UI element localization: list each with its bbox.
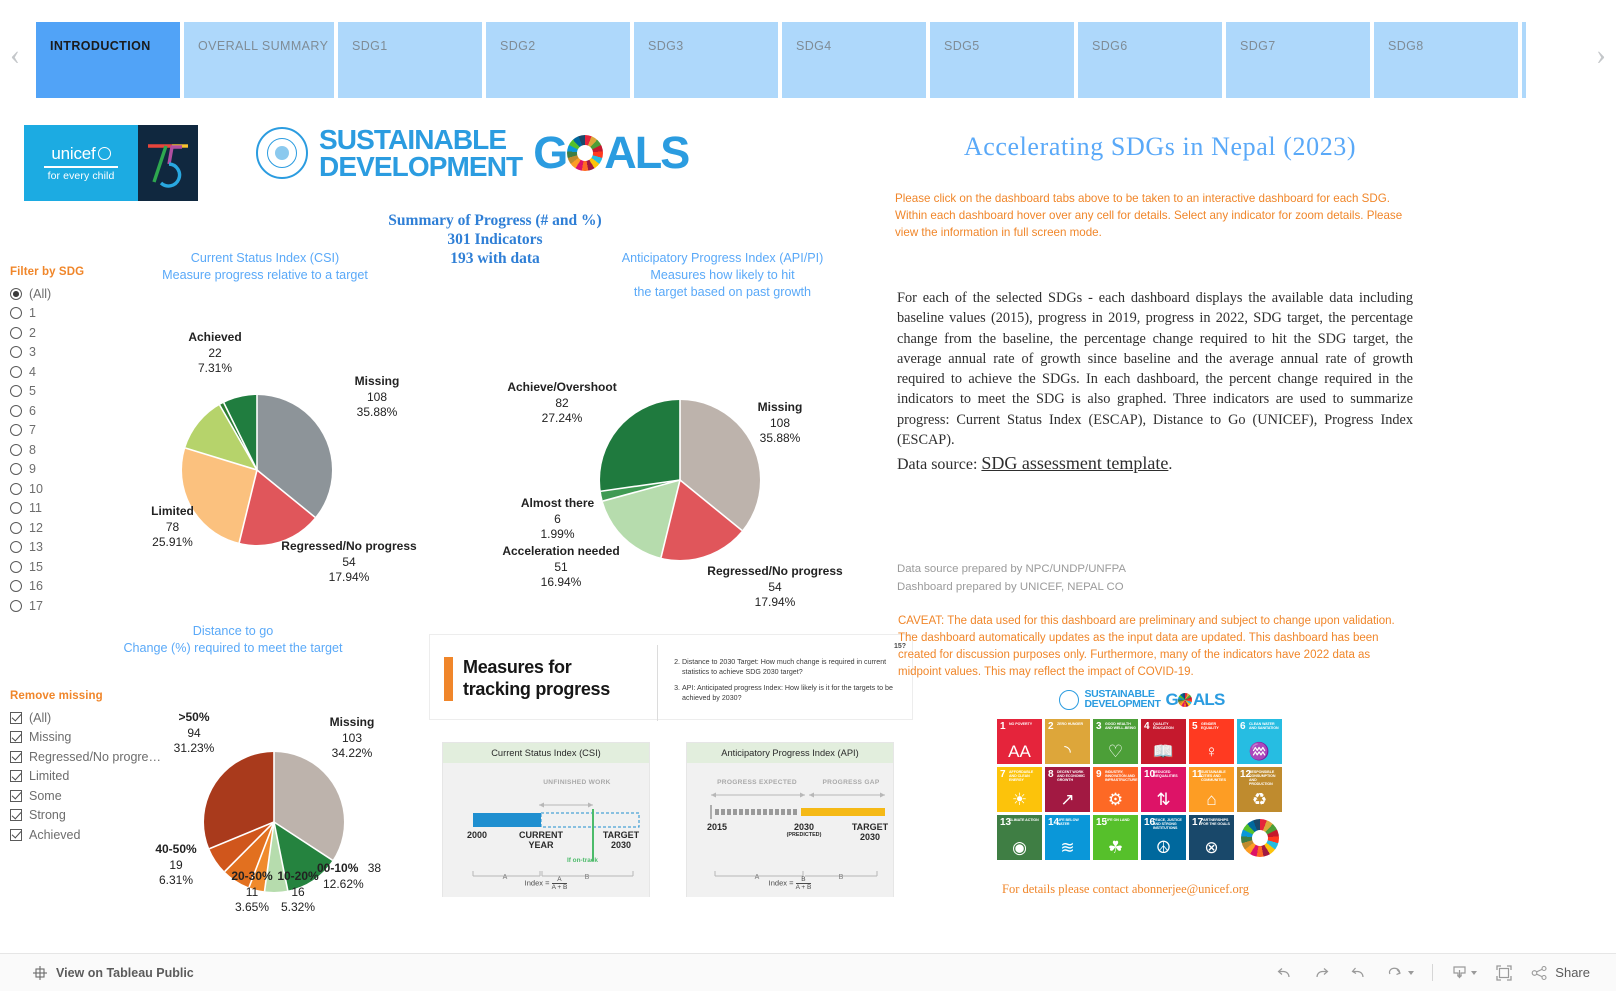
option-label: 11 — [29, 501, 42, 515]
measures-list-item: Distance to 2030 Target: How much change… — [682, 657, 898, 678]
data-source-suffix: . — [1168, 456, 1172, 473]
sdg-goal-tile-6[interactable]: 6CLEAN WATER AND SANITATION♒ — [1237, 719, 1282, 764]
checkbox-icon[interactable] — [10, 751, 22, 763]
tab-introduction[interactable]: INTRODUCTION — [36, 22, 180, 98]
radio-icon[interactable] — [10, 502, 22, 514]
tabs-scroll-left-icon[interactable]: ‹ — [10, 40, 20, 70]
sdg-goal-tile-3[interactable]: 3GOOD HEALTH AND WELL-BEING♡ — [1093, 719, 1138, 764]
api-heading-line-1: Anticipatory Progress Index (API/PI) — [590, 250, 855, 267]
option-label: Achieved — [29, 828, 80, 842]
goal-title: GENDER EQUALITY — [1201, 722, 1232, 730]
data-source-prefix: Data source: — [897, 456, 981, 473]
dtg-00-10-count: 38 — [368, 861, 381, 877]
goal-title: REDUCED INEQUALITIES — [1153, 770, 1184, 778]
redo-icon[interactable] — [1312, 965, 1331, 981]
checkbox-icon[interactable] — [10, 770, 22, 782]
sdg-goal-tile-12[interactable]: 12RESPONSIBLE CONSUMPTION AND PRODUCTION… — [1237, 767, 1282, 812]
sdg-goal-tile-9[interactable]: 9INDUSTRY, INNOVATION AND INFRASTRUCTURE… — [1093, 767, 1138, 812]
dtg-label-missing: Missing 103 34.22% — [310, 715, 394, 762]
goal-pictogram-icon: ☮ — [1141, 839, 1186, 856]
csi-heading-line-2: Measure progress relative to a target — [120, 267, 410, 284]
sdg-filter-option-2[interactable]: 2 — [10, 323, 180, 343]
option-label: 2 — [29, 326, 36, 340]
prepared-by-line-2: Dashboard prepared by UNICEF, NEPAL CO — [897, 579, 1126, 597]
tab-strip: INTRODUCTIONOVERALL SUMMARYSDG1SDG2SDG3S… — [36, 22, 1526, 98]
api-heading-line-2: Measures how likely to hit — [590, 267, 855, 284]
option-label: Some — [29, 789, 62, 803]
api-fraction: B A + B — [796, 876, 812, 891]
goal-pictogram-icon: ☀ — [997, 791, 1042, 808]
option-label: (All) — [29, 287, 51, 301]
checkbox-icon[interactable] — [10, 731, 22, 743]
goal-pictogram-icon: ↗ — [1045, 791, 1090, 808]
checkbox-icon[interactable] — [10, 829, 22, 841]
un-emblem-icon — [1059, 690, 1079, 710]
unicef-tagline: for every child — [48, 170, 115, 182]
csi-card-header: Current Status Index (CSI) — [443, 743, 649, 763]
csi-label-limited: Limited 78 25.91% — [130, 504, 215, 551]
remove-missing-checkbox-group: (All)MissingRegressed/No progre…LimitedS… — [10, 708, 180, 845]
sdg-goal-tile-7[interactable]: 7AFFORDABLE AND CLEAN ENERGY☀ — [997, 767, 1042, 812]
radio-icon[interactable] — [10, 444, 22, 456]
csi-label-missing: Missing 108 35.88% — [322, 374, 432, 421]
checkbox-icon[interactable] — [10, 790, 22, 802]
csi-on-track-note: If on-track — [567, 857, 598, 864]
goal-title: INDUSTRY, INNOVATION AND INFRASTRUCTURE — [1105, 770, 1136, 782]
sdg-filter-option-10[interactable]: 10 — [10, 479, 180, 499]
dtg-label-over-50: >50% 94 31.23% — [158, 710, 230, 757]
option-label: 12 — [29, 521, 43, 535]
goal-title: QUALITY EDUCATION — [1153, 722, 1184, 730]
goal-title: DECENT WORK AND ECONOMIC GROWTH — [1057, 770, 1088, 782]
goal-title: AFFORDABLE AND CLEAN ENERGY — [1009, 770, 1040, 782]
summary-title-line-1: Summary of Progress (# and %) — [330, 212, 660, 231]
goal-number: 8 — [1048, 769, 1054, 780]
goals-g: G — [533, 127, 566, 179]
sdg-filter-option-6[interactable]: 6 — [10, 401, 180, 421]
api-label-regressed: Regressed/No progress 54 17.94% — [695, 564, 855, 611]
sustainable-development-goals-logo: SUSTAINABLE DEVELOPMENT G ALS — [256, 126, 688, 180]
goal-pictogram-icon: ⇅ — [1141, 791, 1186, 808]
tab-overall-summary[interactable]: OVERALL SUMMARY — [184, 22, 334, 98]
sdg-mini-goals-wordmark: G ALS — [1166, 690, 1225, 710]
sdg-filter-option-1[interactable]: 1 — [10, 304, 180, 324]
goal-title: SUSTAINABLE CITIES AND COMMUNITIES — [1201, 770, 1232, 782]
un-emblem-icon — [256, 127, 308, 179]
option-label: Limited — [29, 769, 69, 783]
tabs-scroll-right-icon[interactable]: › — [1596, 40, 1606, 70]
radio-icon[interactable] — [10, 522, 22, 534]
goal-pictogram-icon: AA — [997, 743, 1042, 760]
sdg-goal-tile-8[interactable]: 8DECENT WORK AND ECONOMIC GROWTH↗ — [1045, 767, 1090, 812]
sdg-goal-tile-11[interactable]: 11SUSTAINABLE CITIES AND COMMUNITIES⌂ — [1189, 767, 1234, 812]
option-label: 6 — [29, 404, 36, 418]
chevron-down-icon[interactable] — [1471, 971, 1477, 975]
tab-sdg3[interactable]: SDG3 — [634, 22, 778, 98]
goal-pictogram-icon: ≋ — [1045, 839, 1090, 856]
option-label: Strong — [29, 808, 66, 822]
goal-number: 1 — [1000, 721, 1006, 732]
unicef-logo: unicef for every child — [24, 125, 138, 201]
radio-icon[interactable] — [10, 307, 22, 319]
sdg-filter-option-16[interactable]: 16 — [10, 577, 180, 597]
radio-icon[interactable] — [10, 600, 22, 612]
sdg-goal-tile-13[interactable]: 13CLIMATE ACTION◉ — [997, 815, 1042, 860]
radio-icon[interactable] — [10, 288, 22, 300]
tab-sdg7[interactable]: SDG7 — [1226, 22, 1370, 98]
prepared-by-line-1: Data source prepared by NPC/UNDP/UNFPA — [897, 561, 1126, 579]
option-label: 8 — [29, 443, 36, 457]
option-label: Missing — [29, 730, 71, 744]
unicef-globe-icon — [98, 147, 111, 160]
sdg-filter-option-5[interactable]: 5 — [10, 382, 180, 402]
sdg-color-wheel-tile — [1237, 815, 1282, 860]
radio-icon[interactable] — [10, 405, 22, 417]
goal-pictogram-icon: ♡ — [1093, 743, 1138, 760]
sdg-mini-line-2: DEVELOPMENT — [1084, 700, 1160, 710]
dashboard-description-paragraph: For each of the selected SDGs - each das… — [897, 288, 1413, 450]
toolbar-actions: Share — [1275, 964, 1590, 982]
sdg-filter-option-8[interactable]: 8 — [10, 440, 180, 460]
api-index-label: Index = — [769, 878, 794, 887]
api-denominator: A + B — [796, 884, 812, 891]
measures-list-item: API: Anticipated progress Index: How lik… — [682, 683, 898, 704]
sdg-filter-option-15[interactable]: 15 — [10, 557, 180, 577]
data-source-link[interactable]: SDG assessment template — [981, 453, 1168, 473]
measures-title-line-1: Measures for — [463, 657, 610, 679]
goal-number: 6 — [1240, 721, 1246, 732]
sdg-goal-tile-17[interactable]: 17PARTNERSHIPS FOR THE GOALS⊗ — [1189, 815, 1234, 860]
goal-title: LIFE ON LAND — [1105, 818, 1136, 822]
api-label-missing: Missing 108 35.88% — [730, 400, 830, 447]
anniversary-75-icon — [142, 138, 194, 188]
logo-group: unicef for every child — [24, 125, 198, 201]
goal-number: 4 — [1144, 721, 1150, 732]
goal-title: ZERO HUNGER — [1057, 722, 1088, 726]
api-numerator: B — [796, 876, 812, 884]
csi-numerator: A — [552, 876, 568, 884]
option-label: 1 — [29, 306, 36, 320]
api-card-header: Anticipatory Progress Index (API) — [687, 743, 893, 763]
goal-pictogram-icon: 📖 — [1141, 743, 1186, 760]
option-label: 9 — [29, 462, 36, 476]
radio-icon[interactable] — [10, 541, 22, 553]
share-button[interactable]: Share — [1531, 965, 1590, 981]
divider — [44, 166, 118, 167]
option-label: Regressed/No progre… — [29, 750, 161, 764]
sdg-line-1: SUSTAINABLE — [319, 126, 522, 153]
goal-pictogram-icon: ⊗ — [1189, 839, 1234, 856]
csi-formula: Index = A A + B — [443, 876, 649, 891]
goal-pictogram-icon: ♒ — [1237, 743, 1282, 760]
api-card-body: PROGRESS EXPECTED PROGRESS GAP — [687, 763, 893, 897]
remove-missing-option-some[interactable]: Some — [10, 786, 180, 806]
view-on-tableau-public-button[interactable]: View on Tableau Public — [32, 965, 194, 981]
download-icon[interactable] — [1451, 964, 1477, 981]
radio-icon[interactable] — [10, 483, 22, 495]
api-diagram-card[interactable]: Anticipatory Progress Index (API) PROGRE… — [686, 742, 894, 897]
remove-missing-option-strong[interactable]: Strong — [10, 806, 180, 826]
goal-title: LIFE BELOW WATER — [1057, 818, 1088, 826]
option-label: 16 — [29, 579, 43, 593]
csi-start-year: 2000 — [455, 831, 499, 841]
sdg-color-wheel-icon — [1178, 693, 1192, 707]
goal-title: RESPONSIBLE CONSUMPTION AND PRODUCTION — [1249, 770, 1280, 787]
share-icon — [1531, 965, 1548, 981]
sdg-goal-tile-15[interactable]: 15LIFE ON LAND☘ — [1093, 815, 1138, 860]
sdg-filter-option-all[interactable]: (All) — [10, 284, 180, 304]
measures-list: Distance to 2030 Target: How much change… — [673, 657, 898, 708]
option-label: 13 — [29, 540, 43, 554]
tableau-logo-icon — [32, 965, 48, 981]
option-label: 10 — [29, 482, 43, 496]
sdg-goal-tile-14[interactable]: 14LIFE BELOW WATER≋ — [1045, 815, 1090, 860]
remove-missing-title: Remove missing — [10, 690, 180, 702]
distance-to-go-heading: Distance to go Change (%) required to me… — [88, 623, 378, 657]
sdg-line-2: DEVELOPMENT — [319, 153, 522, 180]
revert-icon[interactable] — [1349, 965, 1368, 981]
goal-pictogram-icon: ♀ — [1189, 743, 1234, 760]
option-label: 3 — [29, 345, 36, 359]
goal-pictogram-icon: ☘ — [1093, 839, 1138, 856]
radio-icon[interactable] — [10, 580, 22, 592]
sdg-goal-tile-16[interactable]: 16PEACE, JUSTICE AND STRONG INSTITUTIONS… — [1141, 815, 1186, 860]
goal-title: NO POVERTY — [1009, 722, 1040, 726]
sdg-goal-tile-5[interactable]: 5GENDER EQUALITY♀ — [1189, 719, 1234, 764]
csi-denominator: A + B — [552, 884, 568, 891]
sdg-filter-option-9[interactable]: 9 — [10, 460, 180, 480]
remove-missing-option-limited[interactable]: Limited — [10, 767, 180, 787]
dtg-label-40-50: 40-50% 19 6.31% — [140, 842, 212, 889]
sdg-goals-grid-section: SUSTAINABLE DEVELOPMENT G ALS 1NO POVERT… — [997, 690, 1287, 860]
csi-card-body: UNFINISHED WORK A B 2000 CURRENT — [443, 763, 649, 897]
unicef-wordmark: unicef — [51, 144, 95, 164]
tab-s[interactable]: S — [1522, 22, 1526, 98]
view-on-tableau-public-label: View on Tableau Public — [56, 966, 194, 980]
mini-goals-als: ALS — [1193, 690, 1225, 710]
divider — [1432, 964, 1433, 981]
dtg-label-00-10: 00-10% 38 12.62% — [317, 861, 427, 892]
goal-title: CLIMATE ACTION — [1009, 818, 1040, 822]
divider — [657, 645, 658, 721]
api-start-year: 2015 — [697, 823, 737, 833]
goal-title: PEACE, JUSTICE AND STRONG INSTITUTIONS — [1153, 818, 1184, 830]
sdg-color-wheel-icon — [1241, 819, 1279, 857]
sdg-goal-tiles: 1NO POVERTYAA2ZERO HUNGER◝3GOOD HEALTH A… — [997, 719, 1287, 860]
api-target-label: TARGET 2030 — [847, 823, 893, 843]
api-mid-year: 2030 (PREDICTED) — [777, 823, 831, 839]
sdg-goal-tile-10[interactable]: 10REDUCED INEQUALITIES⇅ — [1141, 767, 1186, 812]
option-label: 7 — [29, 423, 36, 437]
csi-fraction: A A + B — [552, 876, 568, 891]
api-label-overshoot: Achieve/Overshoot 82 27.24% — [492, 380, 632, 427]
sdg-goal-tile-1[interactable]: 1NO POVERTYAA — [997, 719, 1042, 764]
api-label-almost-there: Almost there 6 1.99% — [500, 496, 615, 543]
tab-sdg6[interactable]: SDG6 — [1078, 22, 1222, 98]
sdg-mini-wordmark: SUSTAINABLE DEVELOPMENT — [1084, 690, 1160, 710]
tab-sdg8[interactable]: SDG8 — [1374, 22, 1518, 98]
goal-pictogram-icon: ♻ — [1237, 791, 1282, 808]
filter-by-sdg-panel: Filter by SDG (All)123456789101112131516… — [10, 266, 180, 616]
contact-line: For details please contact abonnerjee@un… — [1002, 882, 1249, 897]
sdg-filter-option-17[interactable]: 17 — [10, 596, 180, 616]
sdg-goal-tile-4[interactable]: 4QUALITY EDUCATION📖 — [1141, 719, 1186, 764]
api-mid-year-sub: (PREDICTED) — [777, 833, 831, 839]
csi-label-regressed: Regressed/No progress 54 17.94% — [268, 539, 430, 586]
checkbox-icon[interactable] — [10, 712, 22, 724]
tab-sdg1[interactable]: SDG1 — [338, 22, 482, 98]
radio-icon[interactable] — [10, 463, 22, 475]
dtg-00-10-pct: 12.62% — [323, 877, 364, 893]
goal-pictogram-icon: ◉ — [997, 839, 1042, 856]
caveat-note: CAVEAT: The data used for this dashboard… — [898, 613, 1398, 681]
option-label: 4 — [29, 365, 36, 379]
page-title: Accelerating SDGs in Nepal (2023) — [900, 132, 1420, 162]
option-label: 15 — [29, 560, 43, 574]
api-target-line-2: 2030 — [847, 833, 893, 843]
tab-sdg5[interactable]: SDG5 — [930, 22, 1074, 98]
sdg-filter-option-3[interactable]: 3 — [10, 343, 180, 363]
measures-for-tracking-progress-card[interactable]: Measures for tracking progress 15? Dista… — [429, 634, 913, 720]
prepared-by-note: Data source prepared by NPC/UNDP/UNFPA D… — [897, 561, 1126, 596]
sdg-goal-tile-2[interactable]: 2ZERO HUNGER◝ — [1045, 719, 1090, 764]
goal-number: 2 — [1048, 721, 1054, 732]
goal-pictogram-icon: ◝ — [1045, 743, 1090, 760]
goal-number: 5 — [1192, 721, 1198, 732]
dashboard-instructions: Please click on the dashboard tabs above… — [895, 191, 1405, 241]
sdg-filter-option-4[interactable]: 4 — [10, 362, 180, 382]
sdg-wordmark: SUSTAINABLE DEVELOPMENT — [319, 126, 522, 180]
remove-missing-panel: Remove missing (All)MissingRegressed/No … — [10, 690, 180, 845]
api-heading: Anticipatory Progress Index (API/PI) Mea… — [590, 250, 855, 301]
bottom-toolbar: View on Tableau Public — [0, 953, 1616, 991]
goal-title: CLEAN WATER AND SANITATION — [1249, 722, 1280, 730]
refresh-icon[interactable] — [1386, 965, 1414, 981]
csi-label-achieved: Achieved 22 7.31% — [170, 330, 260, 377]
accent-bar — [444, 657, 453, 701]
share-label: Share — [1555, 965, 1590, 980]
dashboard-tab-bar: ‹ INTRODUCTIONOVERALL SUMMARYSDG1SDG2SDG… — [0, 0, 1616, 110]
api-label-acceleration-needed: Acceleration needed 51 16.94% — [489, 544, 633, 591]
radio-icon[interactable] — [10, 561, 22, 573]
radio-icon[interactable] — [10, 346, 22, 358]
api-heading-line-3: the target based on past growth — [590, 284, 855, 301]
radio-icon[interactable] — [10, 385, 22, 397]
tab-sdg2[interactable]: SDG2 — [486, 22, 630, 98]
radio-icon[interactable] — [10, 366, 22, 378]
data-source-line: Data source: SDG assessment template. — [897, 453, 1172, 474]
csi-heading-line-1: Current Status Index (CSI) — [120, 250, 410, 267]
csi-target-label: TARGET 2030 — [595, 831, 647, 851]
dtg-heading-line-1: Distance to go — [88, 623, 378, 640]
goal-pictogram-icon: ⌂ — [1189, 791, 1234, 808]
measures-title-line-2: tracking progress — [463, 679, 610, 701]
sdg-color-wheel-icon — [567, 135, 603, 171]
csi-target-line-2: 2030 — [595, 841, 647, 851]
checkbox-icon[interactable] — [10, 809, 22, 821]
goal-title: GOOD HEALTH AND WELL-BEING — [1105, 722, 1136, 730]
goal-number: 3 — [1096, 721, 1102, 732]
radio-icon[interactable] — [10, 327, 22, 339]
goal-number: 7 — [1000, 769, 1006, 780]
sdg-goals-wordmark: G ALS — [533, 127, 688, 179]
sdg-mini-logo: SUSTAINABLE DEVELOPMENT G ALS — [997, 690, 1287, 710]
remove-missing-option-regressednoprogre[interactable]: Regressed/No progre… — [10, 747, 180, 767]
csi-diagram-card[interactable]: Current Status Index (CSI) UNFINISHED WO… — [442, 742, 650, 897]
csi-heading: Current Status Index (CSI) Measure progr… — [120, 250, 410, 284]
sdg-radio-group: (All)12345678910111213151617 — [10, 284, 180, 616]
remove-missing-option-all[interactable]: (All) — [10, 708, 180, 728]
option-label: (All) — [29, 711, 51, 725]
tab-sdg4[interactable]: SDG4 — [782, 22, 926, 98]
undo-icon[interactable] — [1275, 965, 1294, 981]
unicef-75-anniversary-logo — [138, 125, 198, 201]
csi-current-line-2: YEAR — [509, 841, 573, 851]
summary-title-line-2: 301 Indicators — [330, 231, 660, 250]
radio-icon[interactable] — [10, 424, 22, 436]
goal-title: PARTNERSHIPS FOR THE GOALS — [1201, 818, 1232, 826]
dtg-heading-line-2: Change (%) required to meet the target — [88, 640, 378, 657]
csi-index-label: Index = — [525, 878, 550, 887]
mini-goals-g: G — [1166, 690, 1178, 710]
chevron-down-icon[interactable] — [1408, 971, 1414, 975]
goals-als: ALS — [604, 127, 688, 179]
goal-pictogram-icon: ⚙ — [1093, 791, 1138, 808]
sdg-filter-option-7[interactable]: 7 — [10, 421, 180, 441]
goal-number: 9 — [1096, 769, 1102, 780]
remove-missing-option-missing[interactable]: Missing — [10, 728, 180, 748]
fullscreen-icon[interactable] — [1495, 964, 1513, 982]
csi-current-year-label: CURRENT YEAR — [509, 831, 573, 851]
option-label: 5 — [29, 384, 36, 398]
api-formula: Index = B A + B — [687, 876, 893, 891]
option-label: 17 — [29, 599, 43, 613]
measures-card-title: Measures for tracking progress — [463, 657, 610, 701]
